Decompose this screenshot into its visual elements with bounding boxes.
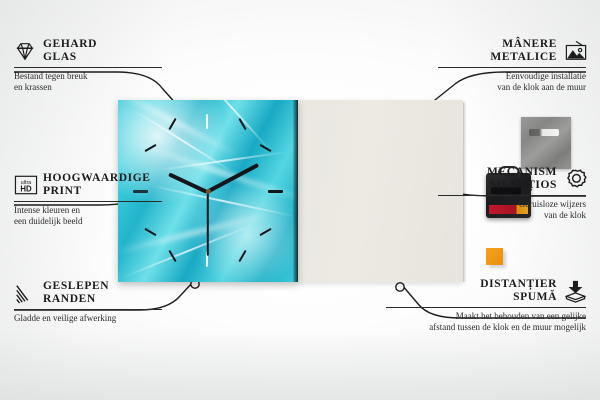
- clock-tick: [144, 228, 156, 236]
- callout-title-line1: MECANISM: [487, 166, 557, 179]
- callout-desc-line1: Gladde en veilige afwerking: [14, 313, 162, 324]
- spacer-arrow-icon: [564, 280, 586, 302]
- clock-center-pin: [206, 189, 211, 194]
- ultra-hd-icon: ultra HD: [14, 174, 36, 196]
- callout-manere-metalice[interactable]: MÂNERE METALICE Eenvoudige installatie v…: [438, 38, 586, 93]
- infographic-canvas: GEHARD GLAS Bestand tegen breuk en krass…: [0, 0, 600, 400]
- callout-title-line2: PRINT: [43, 185, 151, 198]
- callout-mecanism-silentios[interactable]: MECANISM SILENȚIOS Geruisloze wijzers va…: [438, 166, 586, 221]
- product-photo: [118, 100, 463, 282]
- divider: [386, 307, 586, 308]
- callout-hoogwaardige-print[interactable]: ultra HD HOOGWAARDIGE PRINT Intense kleu…: [14, 172, 162, 227]
- hanger-slot: [529, 129, 559, 136]
- callout-title-line2: METALICE: [490, 51, 557, 64]
- second-hand: [207, 192, 209, 256]
- callout-geslepen-randen[interactable]: GESLEPEN RANDEN Gladde en veilige afwerk…: [14, 280, 162, 324]
- clock-tick: [206, 114, 208, 129]
- callout-desc-line2: van de klok: [438, 210, 586, 221]
- callout-desc-line2: en krassen: [14, 82, 162, 93]
- divider: [438, 195, 586, 196]
- callout-gehard-glas[interactable]: GEHARD GLAS Bestand tegen breuk en krass…: [14, 38, 162, 93]
- callout-desc-line2: afstand tussen de klok en de muur mogeli…: [386, 322, 586, 333]
- callout-title-line2: GLAS: [43, 51, 97, 64]
- ground-edges-icon: [14, 282, 36, 304]
- callout-title-line2: SILENȚIOS: [487, 179, 557, 192]
- callout-desc-line1: Intense kleuren en: [14, 205, 162, 216]
- picture-frame-icon: [564, 40, 586, 62]
- foam-spacer: [486, 248, 503, 265]
- divider: [14, 67, 162, 68]
- callout-title-line1: GESLEPEN: [43, 280, 109, 293]
- diamond-icon: [14, 40, 36, 62]
- callout-distantier-spuma[interactable]: DISTANȚIER SPUMĂ Maakt het behouden van …: [386, 278, 586, 333]
- callout-title-line1: GEHARD: [43, 38, 97, 51]
- callout-desc-line1: Geruisloze wijzers: [438, 199, 586, 210]
- callout-desc-line2: een duidelijk beeld: [14, 216, 162, 227]
- divider: [438, 67, 586, 68]
- clock-tick: [238, 250, 246, 262]
- clock-tick: [268, 190, 283, 193]
- clock-tick: [259, 228, 271, 236]
- callout-desc-line1: Maakt het behouden van een gelijke: [386, 311, 586, 322]
- callout-title-line1: HOOGWAARDIGE: [43, 172, 151, 185]
- callout-desc-line1: Bestand tegen breuk: [14, 71, 162, 82]
- callout-title-line2: RANDEN: [43, 293, 109, 306]
- svg-text:HD: HD: [20, 184, 32, 193]
- callout-title-line1: MÂNERE: [490, 38, 557, 51]
- callout-desc-line1: Eenvoudige installatie: [438, 71, 586, 82]
- divider: [14, 309, 162, 310]
- metal-hanger-plate: [521, 117, 571, 169]
- callout-title-line2: SPUMĂ: [480, 291, 557, 304]
- callout-title-line1: DISTANȚIER: [480, 278, 557, 291]
- gear-icon: [564, 168, 586, 190]
- callout-desc-line2: van de klok aan de muur: [438, 82, 586, 93]
- divider: [14, 201, 162, 202]
